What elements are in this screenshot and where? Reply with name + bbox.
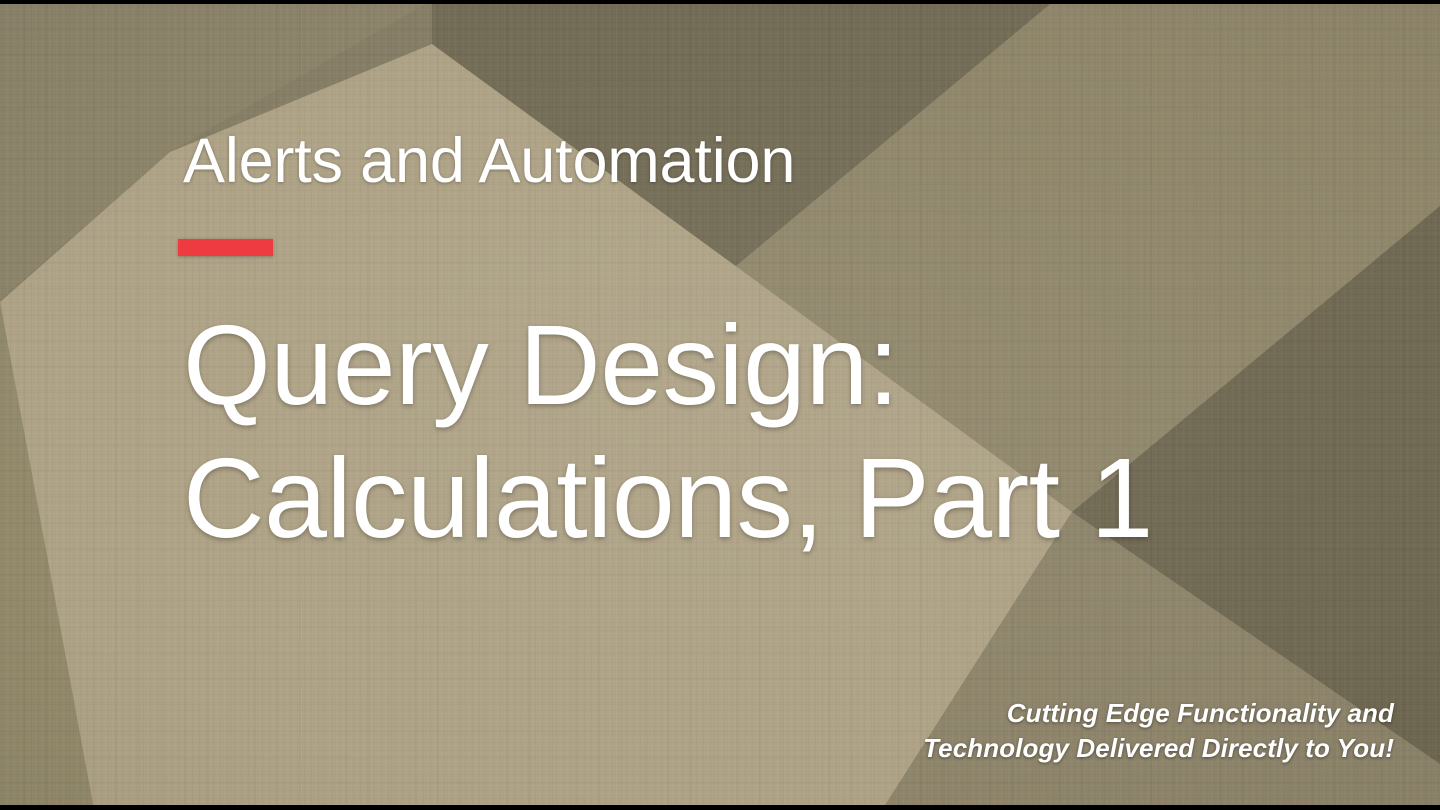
tagline-line-2: Technology Delivered Directly to You!	[923, 731, 1394, 766]
red-accent-bar	[178, 239, 273, 256]
title-slide: Alerts and Automation Query Design: Calc…	[0, 0, 1440, 810]
letterbox-bar-top	[0, 0, 1440, 4]
slide-title: Query Design: Calculations, Part 1	[183, 299, 1153, 566]
tagline-line-1: Cutting Edge Functionality and	[923, 696, 1394, 731]
letterbox-bar-bottom	[0, 805, 1440, 810]
slide-subtitle: Alerts and Automation	[183, 128, 795, 194]
brand-tagline: Cutting Edge Functionality and Technolog…	[923, 696, 1394, 766]
slide-content: Alerts and Automation Query Design: Calc…	[0, 0, 1440, 810]
